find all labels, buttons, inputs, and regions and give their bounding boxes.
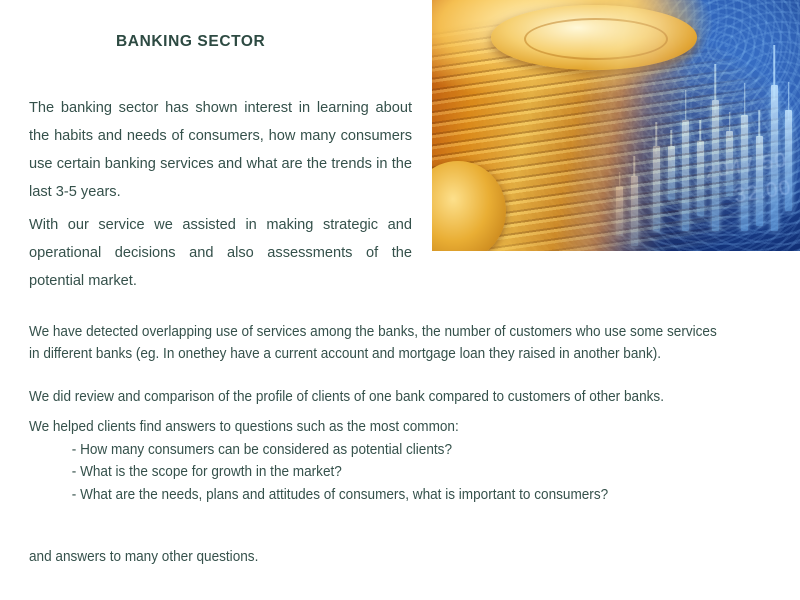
photo-blend-seam (432, 0, 800, 251)
paragraph-overlapping-services: We have detected overlapping use of serv… (29, 321, 725, 366)
paragraph-helped-clients: We helped clients find answers to questi… (29, 416, 725, 439)
page-title: BANKING SECTOR (116, 33, 265, 51)
paragraph-service: With our service we assisted in making s… (29, 211, 412, 295)
questions-section: We helped clients find answers to questi… (29, 416, 725, 506)
list-item: - How many consumers can be considered a… (72, 439, 725, 462)
list-item: - What is the scope for growth in the ma… (72, 461, 725, 484)
slide-page: { "page": { "title": "BANKING SECTOR", "… (0, 0, 800, 600)
paragraph-profile-review: We did review and comparison of the prof… (29, 386, 725, 409)
paragraph-intro: The banking sector has shown interest in… (29, 94, 412, 206)
paragraph-closing: and answers to many other questions. (29, 546, 725, 569)
gold-coins-and-stock-chart-photo: 2047.50 32.00 (432, 0, 800, 251)
list-item: - What are the needs, plans and attitude… (72, 484, 725, 507)
common-questions-list: - How many consumers can be considered a… (29, 439, 725, 507)
